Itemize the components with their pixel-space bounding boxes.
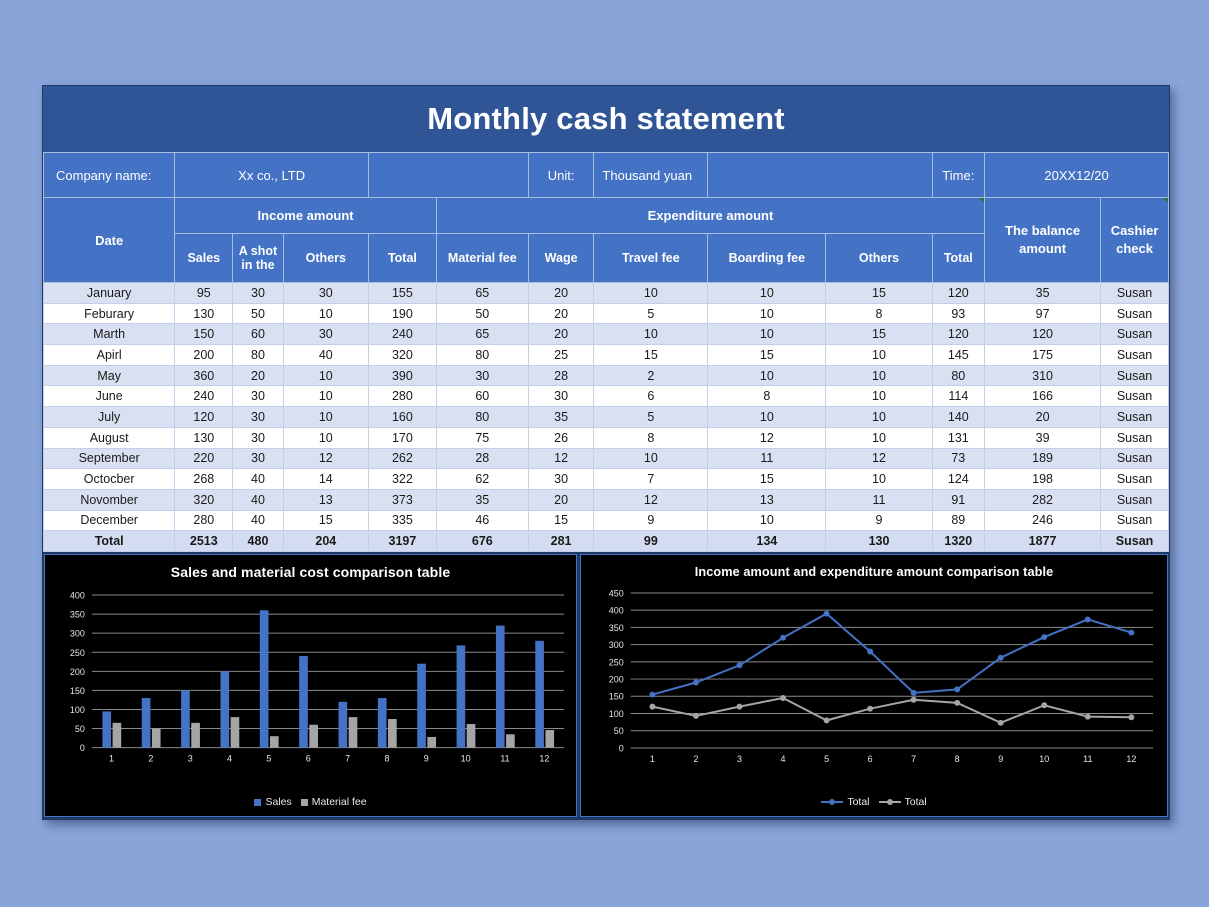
cell-shot[interactable]: 60 [233, 324, 283, 345]
cell-shot[interactable]: 30 [233, 427, 283, 448]
svg-text:150: 150 [609, 692, 624, 702]
cell-in-others[interactable]: 10 [283, 386, 368, 407]
svg-text:12: 12 [539, 754, 549, 764]
header-exp-wage: Wage [528, 234, 594, 283]
cell-ex-total[interactable]: 114 [932, 386, 985, 407]
cell-shot[interactable]: 80 [233, 345, 283, 366]
svg-text:11: 11 [500, 754, 509, 764]
cell-sales[interactable]: 220 [175, 448, 233, 469]
legend-label: Total [905, 796, 927, 808]
cell-boarding[interactable]: 15 [708, 345, 826, 366]
cell-travel[interactable]: 5 [594, 303, 708, 324]
svg-text:100: 100 [609, 709, 624, 719]
bar-chart-plot: 050100150200250300350400123456789101112 [45, 589, 576, 778]
cell-in-others[interactable]: 15 [283, 510, 368, 531]
cell-date[interactable]: Marth [44, 324, 175, 345]
table-row[interactable]: January953030155652010101512035Susan [44, 283, 1169, 304]
cell-ex-others[interactable]: 10 [826, 386, 932, 407]
cell-ex-others[interactable]: 10 [826, 427, 932, 448]
svg-text:4: 4 [781, 754, 786, 764]
header-date: Date [44, 198, 175, 283]
cell-sales[interactable]: 268 [175, 469, 233, 490]
cell-cashier[interactable]: Susan [1101, 345, 1169, 366]
cell-shot[interactable]: 30 [233, 283, 283, 304]
cell-sales[interactable]: 120 [175, 407, 233, 428]
cell-material[interactable]: 80 [436, 345, 528, 366]
cell-sales[interactable]: 280 [175, 510, 233, 531]
cell-date[interactable]: September [44, 448, 175, 469]
cell-ex-total[interactable]: 140 [932, 407, 985, 428]
bar-chart-title: Sales and material cost comparison table [45, 555, 576, 580]
cell-date[interactable]: July [44, 407, 175, 428]
cell-material[interactable]: 80 [436, 407, 528, 428]
unit-value[interactable]: Thousand yuan [594, 153, 708, 198]
cell-ex-total[interactable]: 145 [932, 345, 985, 366]
cell-ex-total[interactable]: 120 [932, 324, 985, 345]
cell-ex-others[interactable]: 9 [826, 510, 932, 531]
svg-text:150: 150 [70, 686, 85, 696]
cell-cashier[interactable]: Susan [1101, 469, 1169, 490]
header-expenditure-group-label: Expenditure amount [648, 208, 774, 223]
cell-boarding[interactable]: 10 [708, 283, 826, 304]
total-cell-balance[interactable]: 1877 [985, 531, 1101, 552]
cell-wage[interactable]: 25 [528, 345, 594, 366]
cell-ex-others[interactable]: 10 [826, 469, 932, 490]
cell-cashier[interactable]: Susan [1101, 365, 1169, 386]
svg-text:11: 11 [1083, 754, 1092, 764]
cell-date[interactable]: December [44, 510, 175, 531]
cell-wage[interactable]: 20 [528, 303, 594, 324]
cell-in-total[interactable]: 262 [369, 448, 437, 469]
cell-in-total[interactable]: 280 [369, 386, 437, 407]
cell-cashier[interactable]: Susan [1101, 489, 1169, 510]
total-cell-wage[interactable]: 281 [528, 531, 594, 552]
cell-ex-others[interactable]: 8 [826, 303, 932, 324]
svg-text:5: 5 [266, 754, 271, 764]
header-income-group: Income amount [175, 198, 437, 234]
cell-material[interactable]: 75 [436, 427, 528, 448]
cell-cashier[interactable]: Susan [1101, 448, 1169, 469]
svg-text:9: 9 [998, 754, 1003, 764]
cell-material[interactable]: 65 [436, 324, 528, 345]
legend-label: Sales [265, 796, 291, 808]
cell-material[interactable]: 46 [436, 510, 528, 531]
cell-in-others[interactable]: 30 [283, 324, 368, 345]
cell-balance[interactable]: 97 [985, 303, 1101, 324]
info-blank-1[interactable] [369, 153, 529, 198]
cell-sales[interactable]: 240 [175, 386, 233, 407]
cell-balance[interactable]: 246 [985, 510, 1101, 531]
cell-travel[interactable]: 9 [594, 510, 708, 531]
svg-text:200: 200 [70, 667, 85, 677]
cell-cashier[interactable]: Susan [1101, 386, 1169, 407]
cell-boarding[interactable]: 10 [708, 303, 826, 324]
cell-shot[interactable]: 40 [233, 469, 283, 490]
page-title: Monthly cash statement [427, 101, 785, 137]
svg-text:6: 6 [306, 754, 311, 764]
total-cell-sales[interactable]: 2513 [175, 531, 233, 552]
cell-shot[interactable]: 40 [233, 510, 283, 531]
svg-text:400: 400 [609, 606, 624, 616]
header-exp-material: Material fee [436, 234, 528, 283]
cell-wage[interactable]: 20 [528, 489, 594, 510]
bar-chart-panel[interactable]: Sales and material cost comparison table… [44, 554, 577, 817]
cell-sales[interactable]: 200 [175, 345, 233, 366]
svg-text:8: 8 [384, 754, 389, 764]
svg-text:5: 5 [824, 754, 829, 764]
cell-cashier[interactable]: Susan [1101, 427, 1169, 448]
cell-date[interactable]: Novomber [44, 489, 175, 510]
svg-text:350: 350 [70, 610, 85, 620]
cell-boarding[interactable]: 10 [708, 324, 826, 345]
header-expenditure-group: Expenditure amount [436, 198, 984, 234]
svg-text:1: 1 [109, 754, 114, 764]
bar-chart-legend: SalesMaterial fee [45, 796, 576, 808]
table-row[interactable]: Novomber3204013373352012131191282Susan [44, 489, 1169, 510]
cell-travel[interactable]: 15 [594, 345, 708, 366]
cell-balance[interactable]: 120 [985, 324, 1101, 345]
cell-date[interactable]: August [44, 427, 175, 448]
cell-in-total[interactable]: 190 [369, 303, 437, 324]
cell-date[interactable]: June [44, 386, 175, 407]
cell-travel[interactable]: 8 [594, 427, 708, 448]
total-cell-cashier[interactable]: Susan [1101, 531, 1169, 552]
svg-text:200: 200 [609, 675, 624, 685]
cell-wage[interactable]: 28 [528, 365, 594, 386]
company-name-label: Company name: [44, 153, 175, 198]
cell-travel[interactable]: 10 [594, 448, 708, 469]
legend-line-icon [821, 801, 843, 803]
svg-text:10: 10 [1039, 754, 1049, 764]
cell-sales[interactable]: 150 [175, 324, 233, 345]
line-chart-plot: 0501001502002503003504004501234567891011… [581, 587, 1167, 778]
table-row[interactable]: Octocber2684014322623071510124198Susan [44, 469, 1169, 490]
header-group-row: Date Income amount Expenditure amount Th… [44, 198, 1169, 234]
cell-in-others[interactable]: 13 [283, 489, 368, 510]
svg-text:250: 250 [609, 658, 624, 668]
cell-material[interactable]: 30 [436, 365, 528, 386]
line-chart-title: Income amount and expenditure amount com… [581, 555, 1167, 579]
total-cell-travel[interactable]: 99 [594, 531, 708, 552]
cell-ex-total[interactable]: 124 [932, 469, 985, 490]
cell-in-total[interactable]: 170 [369, 427, 437, 448]
cell-shot[interactable]: 30 [233, 386, 283, 407]
cell-in-others[interactable]: 10 [283, 427, 368, 448]
line-chart-legend: TotalTotal [581, 796, 1167, 808]
legend-swatch-icon [254, 799, 261, 806]
cell-ex-others[interactable]: 10 [826, 365, 932, 386]
svg-text:1: 1 [650, 754, 655, 764]
cell-in-others[interactable]: 30 [283, 283, 368, 304]
worksheet-document: Monthly cash statement Company name: Xx … [42, 85, 1170, 820]
svg-text:400: 400 [70, 591, 85, 601]
cell-shot[interactable]: 40 [233, 489, 283, 510]
charts-strip: Sales and material cost comparison table… [43, 552, 1169, 819]
svg-text:50: 50 [614, 726, 624, 736]
cell-balance[interactable]: 189 [985, 448, 1101, 469]
total-cell-ex-total[interactable]: 1320 [932, 531, 985, 552]
cell-ex-others[interactable]: 15 [826, 324, 932, 345]
svg-text:0: 0 [619, 744, 624, 754]
svg-text:0: 0 [80, 743, 85, 753]
cell-ex-total[interactable]: 91 [932, 489, 985, 510]
cell-ex-others[interactable]: 10 [826, 345, 932, 366]
svg-text:9: 9 [424, 754, 429, 764]
legend-item: Total [821, 796, 869, 808]
table-row[interactable]: Apirl20080403208025151510145175Susan [44, 345, 1169, 366]
header-cashier-check: Cashier check [1101, 198, 1169, 283]
cell-in-total[interactable]: 160 [369, 407, 437, 428]
cell-in-total[interactable]: 390 [369, 365, 437, 386]
header-income-sales: Sales [175, 234, 233, 283]
header-income-shot: A shot in the [233, 234, 283, 283]
svg-text:10: 10 [461, 754, 471, 764]
company-name-value[interactable]: Xx co., LTD [175, 153, 369, 198]
svg-text:7: 7 [345, 754, 350, 764]
legend-swatch-icon [301, 799, 308, 806]
info-blank-2[interactable] [708, 153, 932, 198]
cell-travel[interactable]: 7 [594, 469, 708, 490]
cell-boarding[interactable]: 12 [708, 427, 826, 448]
cell-travel[interactable]: 10 [594, 283, 708, 304]
cell-boarding[interactable]: 10 [708, 510, 826, 531]
cell-cashier[interactable]: Susan [1101, 324, 1169, 345]
total-cell-ex-others[interactable]: 130 [826, 531, 932, 552]
cell-cashier[interactable]: Susan [1101, 283, 1169, 304]
legend-label: Total [847, 796, 869, 808]
cell-ex-others[interactable]: 10 [826, 407, 932, 428]
cell-wage[interactable]: 20 [528, 324, 594, 345]
cell-date[interactable]: January [44, 283, 175, 304]
cell-balance[interactable]: 166 [985, 386, 1101, 407]
cell-wage[interactable]: 35 [528, 407, 594, 428]
svg-text:350: 350 [609, 623, 624, 633]
legend-item: Sales [254, 796, 291, 808]
cell-boarding[interactable]: 11 [708, 448, 826, 469]
cell-cashier[interactable]: Susan [1101, 303, 1169, 324]
cell-in-others[interactable]: 12 [283, 448, 368, 469]
legend-line-icon [879, 801, 901, 803]
cell-shot[interactable]: 30 [233, 448, 283, 469]
cell-wage[interactable]: 26 [528, 427, 594, 448]
header-exp-others: Others [826, 234, 932, 283]
header-cashier-check-label: Cashier check [1111, 223, 1159, 256]
cell-shot[interactable]: 50 [233, 303, 283, 324]
cell-ex-others[interactable]: 15 [826, 283, 932, 304]
table-row[interactable]: December28040153354615910989246Susan [44, 510, 1169, 531]
svg-text:3: 3 [737, 754, 742, 764]
cell-in-total[interactable]: 373 [369, 489, 437, 510]
total-cell-date[interactable]: Total [44, 531, 175, 552]
cell-wage[interactable]: 15 [528, 510, 594, 531]
cell-boarding[interactable]: 15 [708, 469, 826, 490]
legend-label: Material fee [312, 796, 367, 808]
cell-ex-total[interactable]: 131 [932, 427, 985, 448]
cell-travel[interactable]: 12 [594, 489, 708, 510]
svg-text:12: 12 [1126, 754, 1136, 764]
cell-in-total[interactable]: 335 [369, 510, 437, 531]
svg-text:250: 250 [70, 648, 85, 658]
cell-material[interactable]: 50 [436, 303, 528, 324]
cell-cashier[interactable]: Susan [1101, 407, 1169, 428]
cell-date[interactable]: Octocber [44, 469, 175, 490]
svg-text:300: 300 [70, 629, 85, 639]
cell-balance[interactable]: 35 [985, 283, 1101, 304]
table-row[interactable]: Feburary1305010190502051089397Susan [44, 303, 1169, 324]
cell-sales[interactable]: 95 [175, 283, 233, 304]
cell-cashier[interactable]: Susan [1101, 510, 1169, 531]
cell-date[interactable]: May [44, 365, 175, 386]
cell-balance[interactable]: 20 [985, 407, 1101, 428]
svg-text:7: 7 [911, 754, 916, 764]
cell-in-total[interactable]: 240 [369, 324, 437, 345]
unit-label: Unit: [528, 153, 594, 198]
table-total-row[interactable]: Total25134802043197676281991341301320187… [44, 531, 1169, 552]
cell-shot[interactable]: 20 [233, 365, 283, 386]
cell-sales[interactable]: 130 [175, 427, 233, 448]
total-cell-shot[interactable]: 480 [233, 531, 283, 552]
svg-text:8: 8 [955, 754, 960, 764]
cell-boarding[interactable]: 10 [708, 365, 826, 386]
comment-marker-icon [979, 198, 984, 203]
cell-boarding[interactable]: 10 [708, 407, 826, 428]
header-exp-boarding: Boarding fee [708, 234, 826, 283]
cell-material[interactable]: 62 [436, 469, 528, 490]
svg-text:6: 6 [868, 754, 873, 764]
cell-balance[interactable]: 198 [985, 469, 1101, 490]
total-cell-boarding[interactable]: 134 [708, 531, 826, 552]
cell-ex-total[interactable]: 120 [932, 283, 985, 304]
cell-in-total[interactable]: 322 [369, 469, 437, 490]
cell-boarding[interactable]: 13 [708, 489, 826, 510]
cell-date[interactable]: Apirl [44, 345, 175, 366]
header-income-others: Others [283, 234, 368, 283]
svg-text:100: 100 [70, 705, 85, 715]
cell-ex-total[interactable]: 73 [932, 448, 985, 469]
svg-text:450: 450 [609, 589, 624, 599]
table-body: January953030155652010101512035SusanFebu… [44, 283, 1169, 552]
svg-text:2: 2 [148, 754, 153, 764]
cell-material[interactable]: 28 [436, 448, 528, 469]
total-cell-material[interactable]: 676 [436, 531, 528, 552]
cell-ex-total[interactable]: 80 [932, 365, 985, 386]
cell-in-total[interactable]: 155 [369, 283, 437, 304]
cell-material[interactable]: 60 [436, 386, 528, 407]
cell-sales[interactable]: 130 [175, 303, 233, 324]
table-row[interactable]: Marth15060302406520101015120120Susan [44, 324, 1169, 345]
cell-boarding[interactable]: 8 [708, 386, 826, 407]
cell-ex-total[interactable]: 89 [932, 510, 985, 531]
line-chart-panel[interactable]: Income amount and expenditure amount com… [580, 554, 1168, 817]
cell-balance[interactable]: 39 [985, 427, 1101, 448]
svg-text:300: 300 [609, 640, 624, 650]
document-title-band: Monthly cash statement [43, 86, 1169, 152]
table-row[interactable]: September2203012262281210111273189Susan [44, 448, 1169, 469]
table-row[interactable]: May360201039030282101080310Susan [44, 365, 1169, 386]
cell-wage[interactable]: 30 [528, 386, 594, 407]
cell-in-others[interactable]: 10 [283, 407, 368, 428]
time-value[interactable]: 20XX12/20 [985, 153, 1169, 198]
table-row[interactable]: June240301028060306810114166Susan [44, 386, 1169, 407]
total-cell-in-others[interactable]: 204 [283, 531, 368, 552]
cell-travel[interactable]: 6 [594, 386, 708, 407]
cell-sales[interactable]: 320 [175, 489, 233, 510]
svg-text:3: 3 [188, 754, 193, 764]
header-balance-amount: The balance amount [985, 198, 1101, 283]
cell-in-others[interactable]: 10 [283, 365, 368, 386]
cell-travel[interactable]: 2 [594, 365, 708, 386]
cell-date[interactable]: Feburary [44, 303, 175, 324]
cell-in-total[interactable]: 320 [369, 345, 437, 366]
svg-text:50: 50 [75, 724, 85, 734]
cell-balance[interactable]: 282 [985, 489, 1101, 510]
table-row[interactable]: July120301016080355101014020Susan [44, 407, 1169, 428]
cell-travel[interactable]: 5 [594, 407, 708, 428]
header-exp-travel: Travel fee [594, 234, 708, 283]
cell-in-others[interactable]: 14 [283, 469, 368, 490]
svg-text:2: 2 [693, 754, 698, 764]
cell-sales[interactable]: 360 [175, 365, 233, 386]
cell-shot[interactable]: 30 [233, 407, 283, 428]
comment-marker-icon [1163, 198, 1168, 203]
cell-ex-others[interactable]: 12 [826, 448, 932, 469]
cell-travel[interactable]: 10 [594, 324, 708, 345]
table-row[interactable]: August130301017075268121013139Susan [44, 427, 1169, 448]
cell-wage[interactable]: 20 [528, 283, 594, 304]
cell-in-others[interactable]: 10 [283, 303, 368, 324]
cash-statement-table: Company name: Xx co., LTD Unit: Thousand… [43, 152, 1169, 552]
legend-item: Total [879, 796, 927, 808]
cell-material[interactable]: 35 [436, 489, 528, 510]
cell-wage[interactable]: 12 [528, 448, 594, 469]
svg-text:4: 4 [227, 754, 232, 764]
cell-ex-total[interactable]: 93 [932, 303, 985, 324]
legend-item: Material fee [301, 796, 367, 808]
header-exp-total: Total [932, 234, 985, 283]
header-income-total: Total [369, 234, 437, 283]
cell-ex-others[interactable]: 11 [826, 489, 932, 510]
cell-material[interactable]: 65 [436, 283, 528, 304]
cell-balance[interactable]: 175 [985, 345, 1101, 366]
total-cell-in-total[interactable]: 3197 [369, 531, 437, 552]
info-row: Company name: Xx co., LTD Unit: Thousand… [44, 153, 1169, 198]
cell-balance[interactable]: 310 [985, 365, 1101, 386]
cell-wage[interactable]: 30 [528, 469, 594, 490]
time-label: Time: [932, 153, 985, 198]
cell-in-others[interactable]: 40 [283, 345, 368, 366]
